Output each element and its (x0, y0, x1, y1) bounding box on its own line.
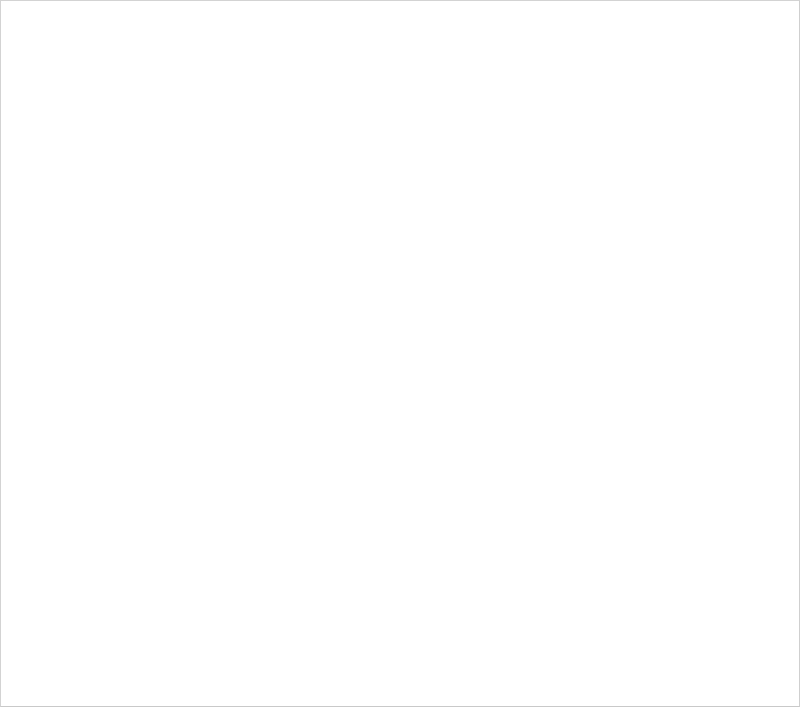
direction-of-equilibrium-label: Direction of Equilibrium (203, 623, 559, 659)
cycle-period-label: Cycle Period (111, 80, 301, 116)
damped-oscillation-figure: Cycle Period Unit Cycle Direction of Equ… (0, 0, 800, 707)
unit-cycle-label: Unit Cycle (578, 312, 727, 346)
